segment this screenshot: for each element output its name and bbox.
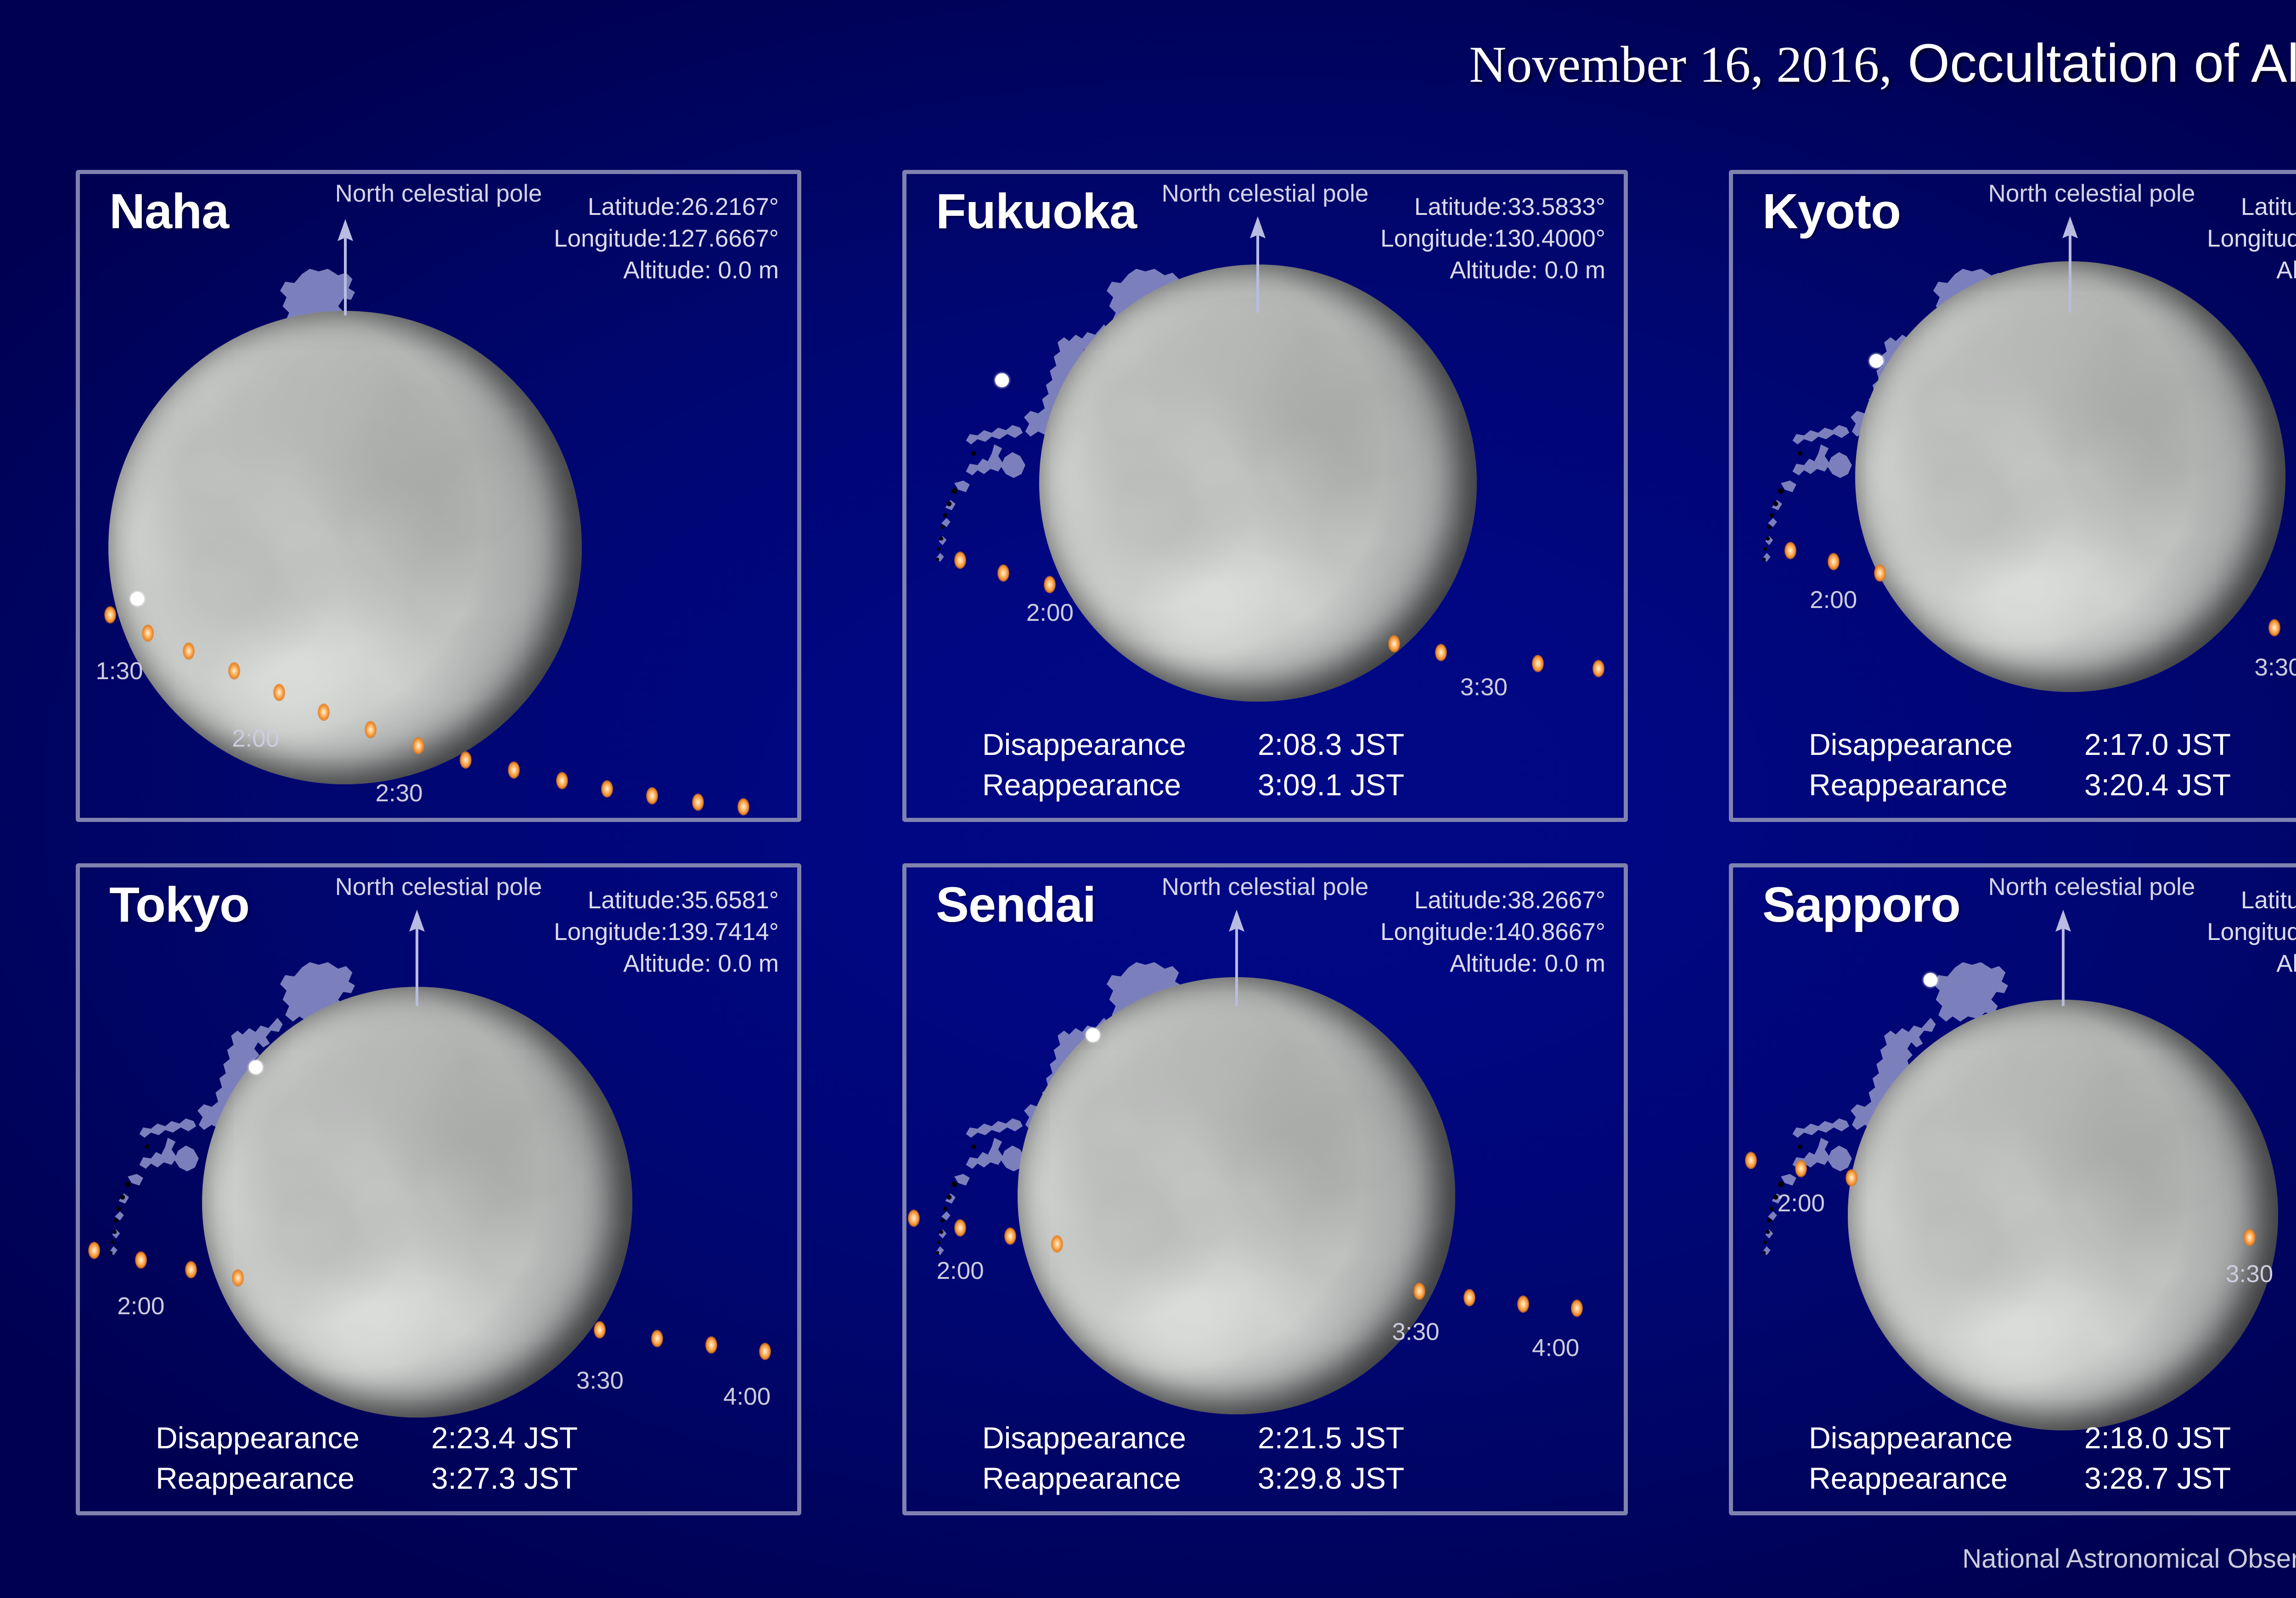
star-track-point <box>412 737 424 754</box>
latitude: Latitude:43.0667° <box>2207 885 2296 917</box>
star-track-point <box>601 780 613 798</box>
reappearance-row: Reappearance3:20.4 JST <box>1809 767 2296 802</box>
star-track-point <box>594 1321 606 1339</box>
star-track-point <box>104 606 116 624</box>
altitude: Altitude: 0.0 m <box>2207 255 2296 287</box>
longitude-value: 139.7414° <box>668 918 779 945</box>
north-celestial-pole-label: North celestial pole <box>1988 873 2195 901</box>
city-panel-sapporo[interactable]: North celestial pole 2:003:30SapporoLati… <box>1729 863 2296 1515</box>
city-panel-sendai[interactable]: North celestial pole 2:003:304:00SendaiL… <box>902 863 1628 1515</box>
occultation-events: Disappearance2:08.3 JSTReappearance3:09.… <box>906 727 1624 802</box>
north-celestial-pole-label: North celestial pole <box>1162 180 1369 208</box>
star-track-time-label: 2:00 <box>1778 1189 1825 1217</box>
moon-disc <box>108 311 582 784</box>
moon-disc <box>202 987 632 1417</box>
disappearance-time: 2:17.0 JST <box>2084 727 2231 762</box>
star-track-point <box>646 787 658 805</box>
footer-attribution: National Astronomical Observatory of Jap… <box>1962 1543 2296 1574</box>
disappearance-row: Disappearance2:08.3 JST <box>982 727 1624 762</box>
occultation-events: Disappearance2:17.0 JSTReappearance3:20.… <box>1733 727 2296 802</box>
panel-city-name: Fukuoka <box>936 182 1137 240</box>
reappearance-row: Reappearance3:27.3 JST <box>156 1461 797 1496</box>
latitude-prefix: Latitude: <box>588 887 681 914</box>
moon-disc <box>1848 1000 2278 1430</box>
star-track-point <box>1051 1235 1063 1253</box>
star-track-time-label: 4:00 <box>723 1383 771 1411</box>
latitude-prefix: Latitude: <box>2241 887 2296 914</box>
altitude-value: 0.0 m <box>1544 950 1605 977</box>
star-track-point <box>759 1343 771 1360</box>
star-track-point <box>1571 1300 1583 1317</box>
city-location-dot <box>995 373 1009 387</box>
latitude: Latitude:35.0167° <box>2207 191 2296 223</box>
city-location-dot <box>1869 354 1883 368</box>
altitude: Altitude: 0.0 m <box>2207 948 2296 980</box>
star-track-point <box>273 684 285 701</box>
star-track-point <box>1593 660 1604 677</box>
reappearance-time: 3:29.8 JST <box>1258 1461 1404 1496</box>
longitude-prefix: Longitude: <box>2207 918 2296 945</box>
longitude-value: 130.4000° <box>1494 225 1605 252</box>
longitude: Longitude:135.7500° <box>2207 223 2296 255</box>
north-celestial-pole-arrow-icon <box>1244 216 1272 315</box>
latitude-value: 26.2167° <box>681 193 779 220</box>
north-celestial-pole-label: North celestial pole <box>335 873 542 901</box>
star-track-point <box>88 1242 100 1259</box>
altitude: Altitude: 0.0 m <box>554 948 779 980</box>
panel-coordinates: Latitude:43.0667°Longitude:141.3500°Alti… <box>2207 885 2296 980</box>
panel-city-name: Tokyo <box>109 876 249 933</box>
disappearance-label: Disappearance <box>1809 727 2084 762</box>
reappearance-time: 3:27.3 JST <box>431 1461 578 1496</box>
moon-disc <box>1018 977 1455 1415</box>
latitude: Latitude:33.5833° <box>1380 191 1605 223</box>
longitude-prefix: Longitude: <box>554 225 668 252</box>
star-track-point <box>135 1251 147 1269</box>
star-track-point <box>1795 1160 1807 1177</box>
panel-grid: North celestial pole 1:302:002:303:003:3… <box>76 170 2296 1520</box>
longitude-prefix: Longitude: <box>2207 225 2296 252</box>
star-track-point <box>556 772 568 789</box>
star-track-point <box>1517 1295 1529 1313</box>
moon-disc <box>1039 264 1477 702</box>
star-track-point <box>365 721 377 738</box>
city-location-dot <box>249 1060 263 1074</box>
panel-city-name: Kyoto <box>1762 182 1901 240</box>
star-track-point <box>954 1219 966 1237</box>
star-track-point <box>1463 1289 1475 1306</box>
star-track-point <box>185 1261 197 1278</box>
reappearance-time: 3:20.4 JST <box>2084 767 2231 802</box>
north-celestial-pole-arrow-icon <box>332 219 359 318</box>
star-track-point <box>1874 564 1886 582</box>
reappearance-row: Reappearance3:29.8 JST <box>982 1461 1624 1496</box>
reappearance-row: Reappearance3:28.7 JST <box>1809 1461 2296 1496</box>
star-track-point <box>651 1330 663 1347</box>
star-track-point <box>1413 1283 1425 1300</box>
star-track-point <box>1388 635 1400 653</box>
city-location-dot <box>130 592 144 606</box>
altitude-prefix: Altitude: <box>623 257 718 284</box>
latitude-prefix: Latitude: <box>2241 193 2296 220</box>
disappearance-label: Disappearance <box>982 1420 1258 1455</box>
disappearance-row: Disappearance2:17.0 JST <box>1809 727 2296 762</box>
star-track-point <box>1004 1227 1016 1245</box>
moon-disc <box>1855 261 2285 692</box>
city-location-dot <box>1924 973 1937 987</box>
occultation-events: Disappearance2:18.0 JSTReappearance3:28.… <box>1733 1420 2296 1496</box>
longitude: Longitude:140.8667° <box>1380 917 1605 948</box>
star-track-time-label: 2:00 <box>1810 586 1857 614</box>
latitude-prefix: Latitude: <box>1414 887 1508 914</box>
longitude-value: 140.8667° <box>1494 918 1605 945</box>
title-main: Occultation of Aldebaran <box>1908 32 2296 95</box>
longitude: Longitude:141.3500° <box>2207 917 2296 948</box>
poster-canvas: November 16, 2016, Occultation of Aldeba… <box>0 0 2296 1598</box>
reappearance-row: Reappearance3:09.1 JST <box>982 767 1624 802</box>
north-celestial-pole-arrow-icon <box>2056 216 2084 315</box>
panel-city-name: Naha <box>109 182 229 240</box>
city-panel-kyoto[interactable]: North celestial pole 2:003:30KyotoLatitu… <box>1729 170 2296 822</box>
star-track-time-label: 2:00 <box>117 1292 164 1320</box>
disappearance-time: 2:08.3 JST <box>1258 727 1404 762</box>
altitude-value: 0.0 m <box>1544 257 1605 284</box>
latitude-value: 33.5833° <box>1508 193 1605 220</box>
altitude-prefix: Altitude: <box>623 950 718 977</box>
altitude: Altitude: 0.0 m <box>554 255 779 287</box>
star-track-point <box>692 793 704 811</box>
altitude: Altitude: 0.0 m <box>1380 255 1605 287</box>
disappearance-row: Disappearance2:21.5 JST <box>982 1420 1624 1455</box>
disappearance-label: Disappearance <box>156 1420 431 1455</box>
star-track-point <box>1846 1169 1857 1187</box>
altitude-prefix: Altitude: <box>1450 950 1544 977</box>
star-track-point <box>1828 553 1840 570</box>
star-track-point <box>1745 1152 1757 1169</box>
reappearance-label: Reappearance <box>982 1461 1258 1496</box>
star-track-time-label: 2:00 <box>1026 599 1074 627</box>
disappearance-label: Disappearance <box>1809 1420 2084 1455</box>
star-track-time-label: 2:30 <box>376 779 423 807</box>
latitude: Latitude:35.6581° <box>554 885 779 917</box>
panel-coordinates: Latitude:33.5833°Longitude:130.4000°Alti… <box>1380 191 1605 287</box>
latitude-value: 38.2667° <box>1508 887 1605 914</box>
panel-city-name: Sendai <box>936 876 1096 933</box>
north-celestial-pole-arrow-icon <box>2049 910 2077 1008</box>
longitude: Longitude:139.7414° <box>554 917 779 948</box>
reappearance-label: Reappearance <box>1809 1461 2084 1496</box>
north-celestial-pole-arrow-icon <box>1223 910 1250 1008</box>
star-track-time-label: 3:00 <box>519 815 566 822</box>
occultation-events: Disappearance2:23.4 JSTReappearance3:27.… <box>80 1420 797 1496</box>
star-track-point <box>1435 644 1447 661</box>
star-track-point <box>1784 542 1796 559</box>
longitude: Longitude:130.4000° <box>1380 223 1605 255</box>
longitude-prefix: Longitude: <box>1380 918 1494 945</box>
panel-city-name: Sapporo <box>1762 876 1960 933</box>
star-track-time-label: 3:30 <box>1392 1318 1439 1346</box>
latitude: Latitude:38.2667° <box>1380 885 1605 917</box>
star-track-time-label: 3:30 <box>1460 673 1508 701</box>
altitude-prefix: Altitude: <box>2276 950 2296 977</box>
altitude-prefix: Altitude: <box>1450 257 1544 284</box>
disappearance-label: Disappearance <box>982 727 1258 762</box>
longitude-value: 127.6667° <box>668 225 779 252</box>
star-track-point <box>1044 576 1056 593</box>
city-location-dot <box>1086 1028 1100 1042</box>
star-track-time-label: 2:00 <box>937 1257 984 1285</box>
reappearance-time: 3:09.1 JST <box>1258 767 1404 802</box>
reappearance-label: Reappearance <box>156 1461 431 1496</box>
altitude-value: 0.0 m <box>718 257 779 284</box>
occultation-events: Disappearance2:21.5 JSTReappearance3:29.… <box>906 1420 1624 1496</box>
city-panel-naha[interactable]: North celestial pole 1:302:002:303:003:3… <box>76 170 801 822</box>
star-track-point <box>2244 1229 2256 1246</box>
north-celestial-pole-arrow-icon <box>403 910 431 1008</box>
title-date: November 16, 2016, <box>1469 35 1892 95</box>
star-track-time-label: 4:00 <box>1532 1334 1579 1362</box>
reappearance-label: Reappearance <box>982 767 1258 802</box>
star-track-point <box>2268 619 2280 636</box>
latitude-prefix: Latitude: <box>1414 193 1508 220</box>
reappearance-time: 3:28.7 JST <box>2084 1461 2231 1496</box>
star-track-point <box>954 551 966 569</box>
altitude-value: 0.0 m <box>718 950 779 977</box>
disappearance-time: 2:21.5 JST <box>1258 1420 1404 1455</box>
longitude-prefix: Longitude: <box>1380 225 1494 252</box>
longitude: Longitude:127.6667° <box>554 223 779 255</box>
reappearance-label: Reappearance <box>1809 767 2084 802</box>
panel-coordinates: Latitude:26.2167°Longitude:127.6667°Alti… <box>554 191 779 287</box>
altitude-prefix: Altitude: <box>2276 257 2296 284</box>
north-celestial-pole-label: North celestial pole <box>335 180 542 208</box>
poster-title: November 16, 2016, Occultation of Aldeba… <box>1469 32 2296 95</box>
disappearance-row: Disappearance2:18.0 JST <box>1809 1420 2296 1455</box>
disappearance-row: Disappearance2:23.4 JST <box>156 1420 797 1455</box>
star-track-time-label: 2:00 <box>232 725 279 753</box>
star-track-time-label: 1:30 <box>96 657 143 685</box>
altitude: Altitude: 0.0 m <box>1380 948 1605 980</box>
panel-coordinates: Latitude:38.2667°Longitude:140.8667°Alti… <box>1380 885 1605 980</box>
star-track-point <box>318 703 330 721</box>
star-track-point <box>142 625 154 642</box>
panel-coordinates: Latitude:35.6581°Longitude:139.7414°Alti… <box>554 885 779 980</box>
north-celestial-pole-label: North celestial pole <box>1162 873 1369 901</box>
panel-coordinates: Latitude:35.0167°Longitude:135.7500°Alti… <box>2207 191 2296 287</box>
latitude-prefix: Latitude: <box>588 193 681 220</box>
city-panel-tokyo[interactable]: North celestial pole 2:003:304:00TokyoLa… <box>76 863 801 1515</box>
city-panel-fukuoka[interactable]: North celestial pole 2:003:30FukuokaLati… <box>902 170 1628 822</box>
star-track-point <box>508 761 520 779</box>
disappearance-time: 2:18.0 JST <box>2084 1420 2231 1455</box>
star-track-time-label: 3:30 <box>2255 653 2296 681</box>
disappearance-time: 2:23.4 JST <box>431 1420 578 1455</box>
latitude: Latitude:26.2167° <box>554 191 779 223</box>
north-celestial-pole-label: North celestial pole <box>1988 180 2195 208</box>
star-track-point <box>460 751 472 769</box>
longitude-prefix: Longitude: <box>554 918 668 945</box>
star-track-point <box>228 662 240 680</box>
star-track-point <box>183 642 195 660</box>
latitude-value: 35.6581° <box>681 887 779 914</box>
star-track-time-label: 3:30 <box>2226 1260 2273 1288</box>
star-track-point <box>705 1336 717 1354</box>
star-track-point <box>232 1269 244 1287</box>
star-track-time-label: 3:30 <box>576 1367 624 1395</box>
star-track-point <box>908 1210 920 1227</box>
star-track-point <box>737 798 749 816</box>
star-track-point <box>997 564 1009 582</box>
star-track-point <box>1532 655 1544 672</box>
